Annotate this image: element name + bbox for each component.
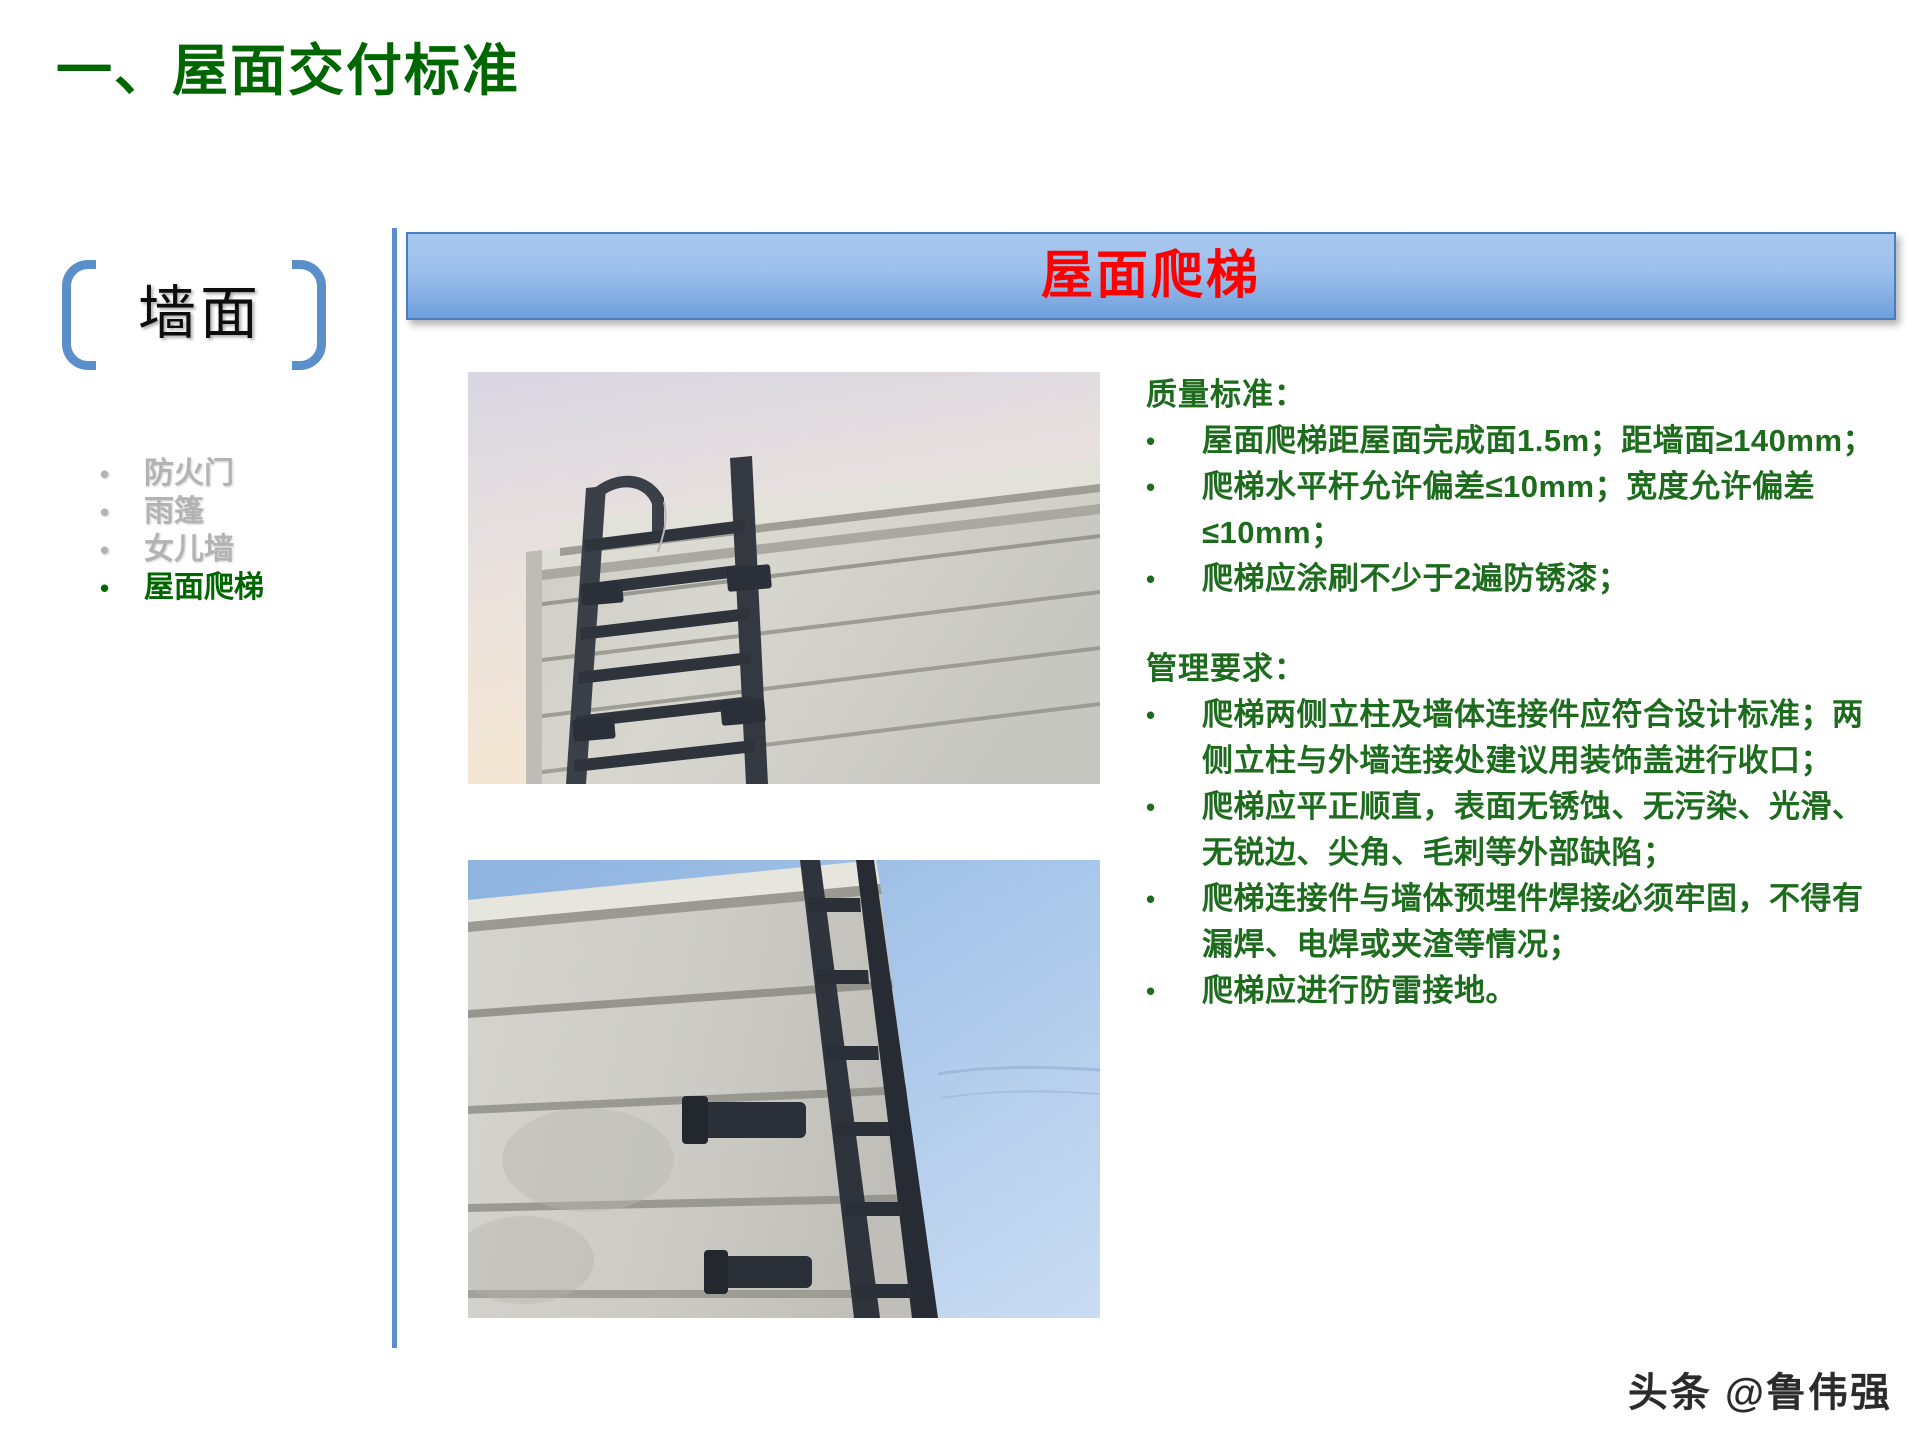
bullet-icon: • xyxy=(1146,968,1202,1014)
management-requirement-item: • 爬梯连接件与墙体预埋件焊接必须牢固，不得有漏焊、电焊或夹渣等情况； xyxy=(1146,876,1886,968)
photo-1-graphic xyxy=(468,372,1100,784)
photo-2-graphic xyxy=(468,860,1100,1318)
management-requirement-item: • 爬梯应平正顺直，表面无锈蚀、无污染、光滑、无锐边、尖角、毛刺等外部缺陷； xyxy=(1146,784,1886,876)
bullet-icon: • xyxy=(100,493,144,531)
quality-standard-heading: 质量标准： xyxy=(1146,372,1886,418)
section-spacer xyxy=(1146,602,1886,646)
quality-standard-item-text: 爬梯水平杆允许偏差≤10mm；宽度允许偏差≤10mm； xyxy=(1202,464,1886,556)
bullet-icon: • xyxy=(100,569,144,607)
sidebar-nav-list: • 防火门 • 雨篷 • 女儿墙 • 屋面爬梯 xyxy=(100,455,400,607)
sidebar-item-label: 女儿墙 xyxy=(144,531,234,569)
bullet-icon: • xyxy=(1146,464,1202,510)
management-requirement-item: • 爬梯应进行防雷接地。 xyxy=(1146,968,1886,1014)
slide-root: 一、屋面交付标准 墙面 • 防火门 • 雨篷 • 女儿墙 • 屋面爬梯 xyxy=(0,0,1920,1440)
quality-standard-item: • 爬梯水平杆允许偏差≤10mm；宽度允许偏差≤10mm； xyxy=(1146,464,1886,556)
management-requirement-item-text: 爬梯应平正顺直，表面无锈蚀、无污染、光滑、无锐边、尖角、毛刺等外部缺陷； xyxy=(1202,784,1886,876)
sidebar-item-label: 雨篷 xyxy=(144,493,204,531)
quality-standard-item: • 爬梯应涂刷不少于2遍防锈漆； xyxy=(1146,556,1886,602)
bullet-icon: • xyxy=(1146,784,1202,830)
sidebar-item-roof-ladder[interactable]: • 屋面爬梯 xyxy=(100,569,400,607)
panel-header-bar: 屋面爬梯 xyxy=(406,232,1896,320)
quality-standard-item: • 屋面爬梯距屋面完成面1.5m；距墙面≥140mm； xyxy=(1146,418,1886,464)
sidebar-item-parapet[interactable]: • 女儿墙 xyxy=(100,531,400,569)
watermark: 头条 @鲁伟强 xyxy=(1628,1360,1892,1418)
quality-standard-item-text: 爬梯应涂刷不少于2遍防锈漆； xyxy=(1202,556,1886,602)
bullet-icon: • xyxy=(1146,418,1202,464)
management-requirement-item-text: 爬梯应进行防雷接地。 xyxy=(1202,968,1886,1014)
sidebar-item-label: 屋面爬梯 xyxy=(144,569,264,607)
page-title: 一、屋面交付标准 xyxy=(56,26,520,107)
photo-roof-ladder-2 xyxy=(468,860,1100,1318)
bullet-icon: • xyxy=(1146,876,1202,922)
bullet-icon: • xyxy=(1146,692,1202,738)
panel-header-title: 屋面爬梯 xyxy=(1041,250,1261,302)
management-requirement-item-text: 爬梯连接件与墙体预埋件焊接必须牢固，不得有漏焊、电焊或夹渣等情况； xyxy=(1202,876,1886,968)
content-panel: 屋面爬梯 xyxy=(406,232,1896,1342)
bullet-icon: • xyxy=(1146,556,1202,602)
section-bracket-group: 墙面 xyxy=(40,260,360,370)
management-requirement-item-text: 爬梯两侧立柱及墙体连接件应符合设计标准；两侧立柱与外墙连接处建议用装饰盖进行收口… xyxy=(1202,692,1886,784)
sidebar-item-fire-door[interactable]: • 防火门 xyxy=(100,455,400,493)
management-requirement-item: • 爬梯两侧立柱及墙体连接件应符合设计标准；两侧立柱与外墙连接处建议用装饰盖进行… xyxy=(1146,692,1886,784)
vertical-divider xyxy=(392,228,397,1348)
bullet-icon: • xyxy=(100,455,144,493)
specs-text-column: 质量标准： • 屋面爬梯距屋面完成面1.5m；距墙面≥140mm； • 爬梯水平… xyxy=(1146,372,1886,1014)
photo-roof-ladder-1 xyxy=(468,372,1100,784)
bullet-icon: • xyxy=(100,531,144,569)
management-requirement-heading: 管理要求： xyxy=(1146,646,1886,692)
sidebar-item-canopy[interactable]: • 雨篷 xyxy=(100,493,400,531)
sidebar-section-label: 墙面 xyxy=(40,266,360,350)
quality-standard-item-text: 屋面爬梯距屋面完成面1.5m；距墙面≥140mm； xyxy=(1202,418,1886,464)
sidebar-item-label: 防火门 xyxy=(144,455,234,493)
sidebar: 墙面 • 防火门 • 雨篷 • 女儿墙 • 屋面爬梯 xyxy=(40,260,370,370)
